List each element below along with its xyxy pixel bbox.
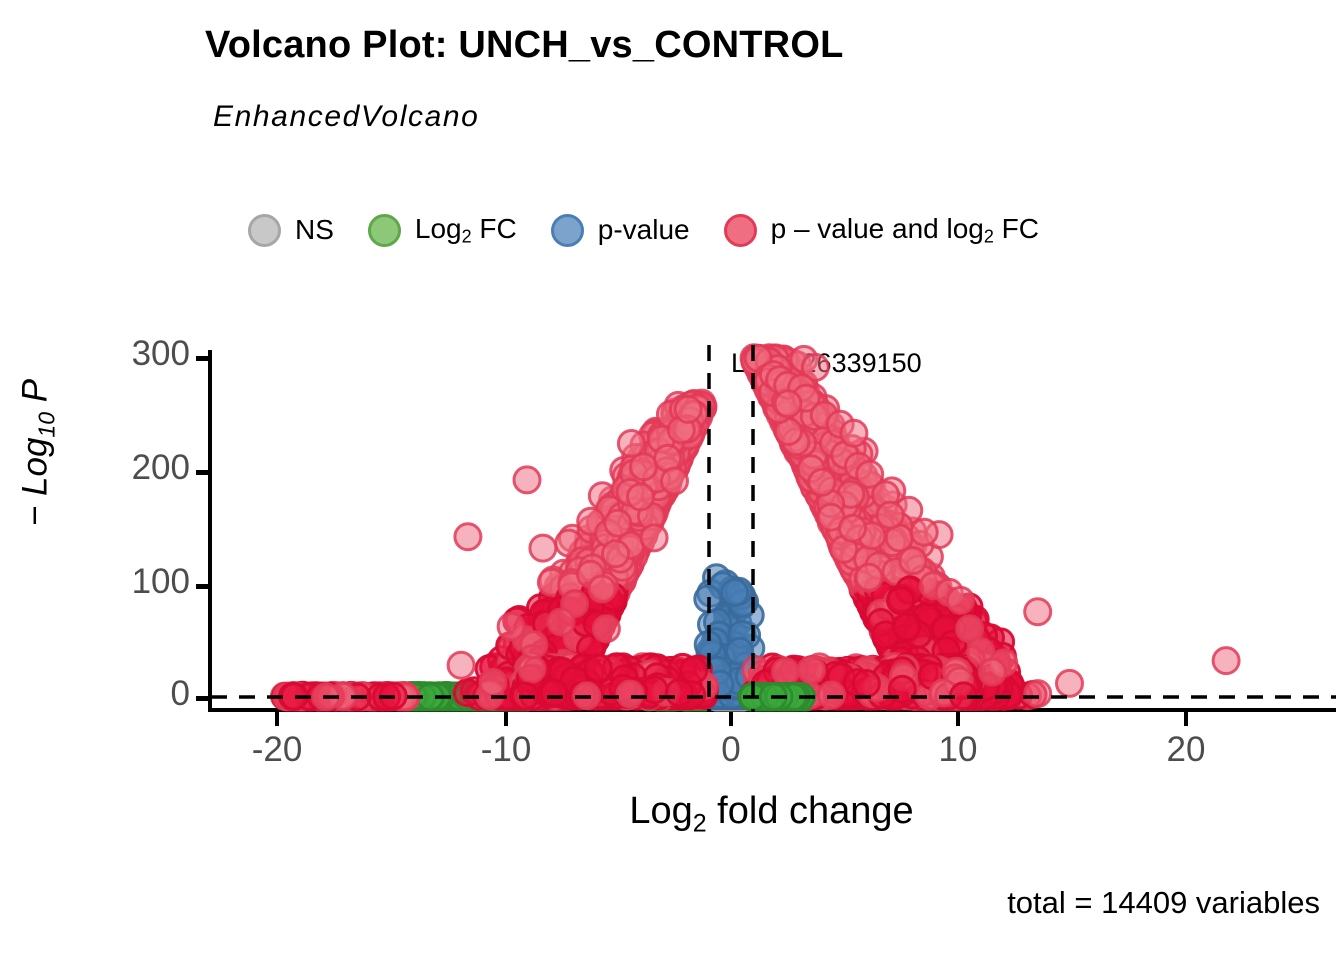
- legend-label-pvalue-and-log2fc: p – value and log2 FC: [771, 215, 1039, 246]
- x-tick-minus10: [504, 712, 508, 726]
- x-tick-20: [1184, 712, 1188, 726]
- volcano-plot-figure: Volcano Plot: UNCH_vs_CONTROL EnhancedVo…: [0, 0, 1344, 960]
- legend-label-pvalue: p-value: [598, 216, 690, 244]
- y-tick-200: [196, 470, 209, 475]
- y-tick-100: [196, 584, 209, 589]
- y-tick-label-0: 0: [171, 674, 190, 714]
- legend-item-pvalue-and-log2fc[interactable]: p – value and log2 FC: [724, 214, 1039, 247]
- legend-dot-pvalue-and-log2fc: [724, 214, 757, 247]
- y-tick-300: [196, 356, 209, 361]
- x-tick-label-minus10: -10: [481, 730, 532, 770]
- page-subtitle: EnhancedVolcano: [213, 100, 479, 134]
- gene-annotation-label: LOC126339150: [731, 348, 922, 379]
- x-tick-minus20: [275, 712, 279, 726]
- legend-label-log2fc: Log2 FC: [415, 215, 517, 246]
- x-tick-label-10: 10: [939, 730, 978, 770]
- legend-item-ns[interactable]: NS: [248, 214, 334, 247]
- legend-label-ns: NS: [295, 216, 334, 244]
- y-axis-line: [208, 350, 212, 712]
- legend-item-pvalue[interactable]: p-value: [551, 214, 690, 247]
- scatter-points-layer: [271, 345, 1239, 710]
- x-tick-label-20: 20: [1167, 730, 1206, 770]
- y-tick-0: [196, 696, 209, 701]
- y-tick-label-100: 100: [132, 562, 190, 602]
- y-tick-label-200: 200: [132, 448, 190, 488]
- legend-dot-ns: [248, 214, 281, 247]
- total-variables-caption: total = 14409 variables: [1007, 885, 1320, 921]
- x-axis-line: [208, 708, 1336, 712]
- x-axis-label: Log2 fold change: [211, 790, 1332, 839]
- legend-dot-log2fc: [368, 214, 401, 247]
- x-tick-10: [956, 712, 960, 726]
- x-tick-0: [729, 712, 733, 726]
- legend-item-log2fc[interactable]: Log2 FC: [368, 214, 517, 247]
- page-title: Volcano Plot: UNCH_vs_CONTROL: [205, 24, 844, 67]
- threshold-lines-layer: [211, 345, 1336, 712]
- y-axis-label: − Log10 P: [16, 293, 61, 613]
- legend-dot-pvalue: [551, 214, 584, 247]
- chart-legend: NS Log2 FC p-value p – value and log2 FC: [248, 200, 1073, 260]
- y-tick-label-300: 300: [132, 334, 190, 374]
- x-tick-label-minus20: -20: [252, 730, 303, 770]
- x-tick-label-0: 0: [721, 730, 740, 770]
